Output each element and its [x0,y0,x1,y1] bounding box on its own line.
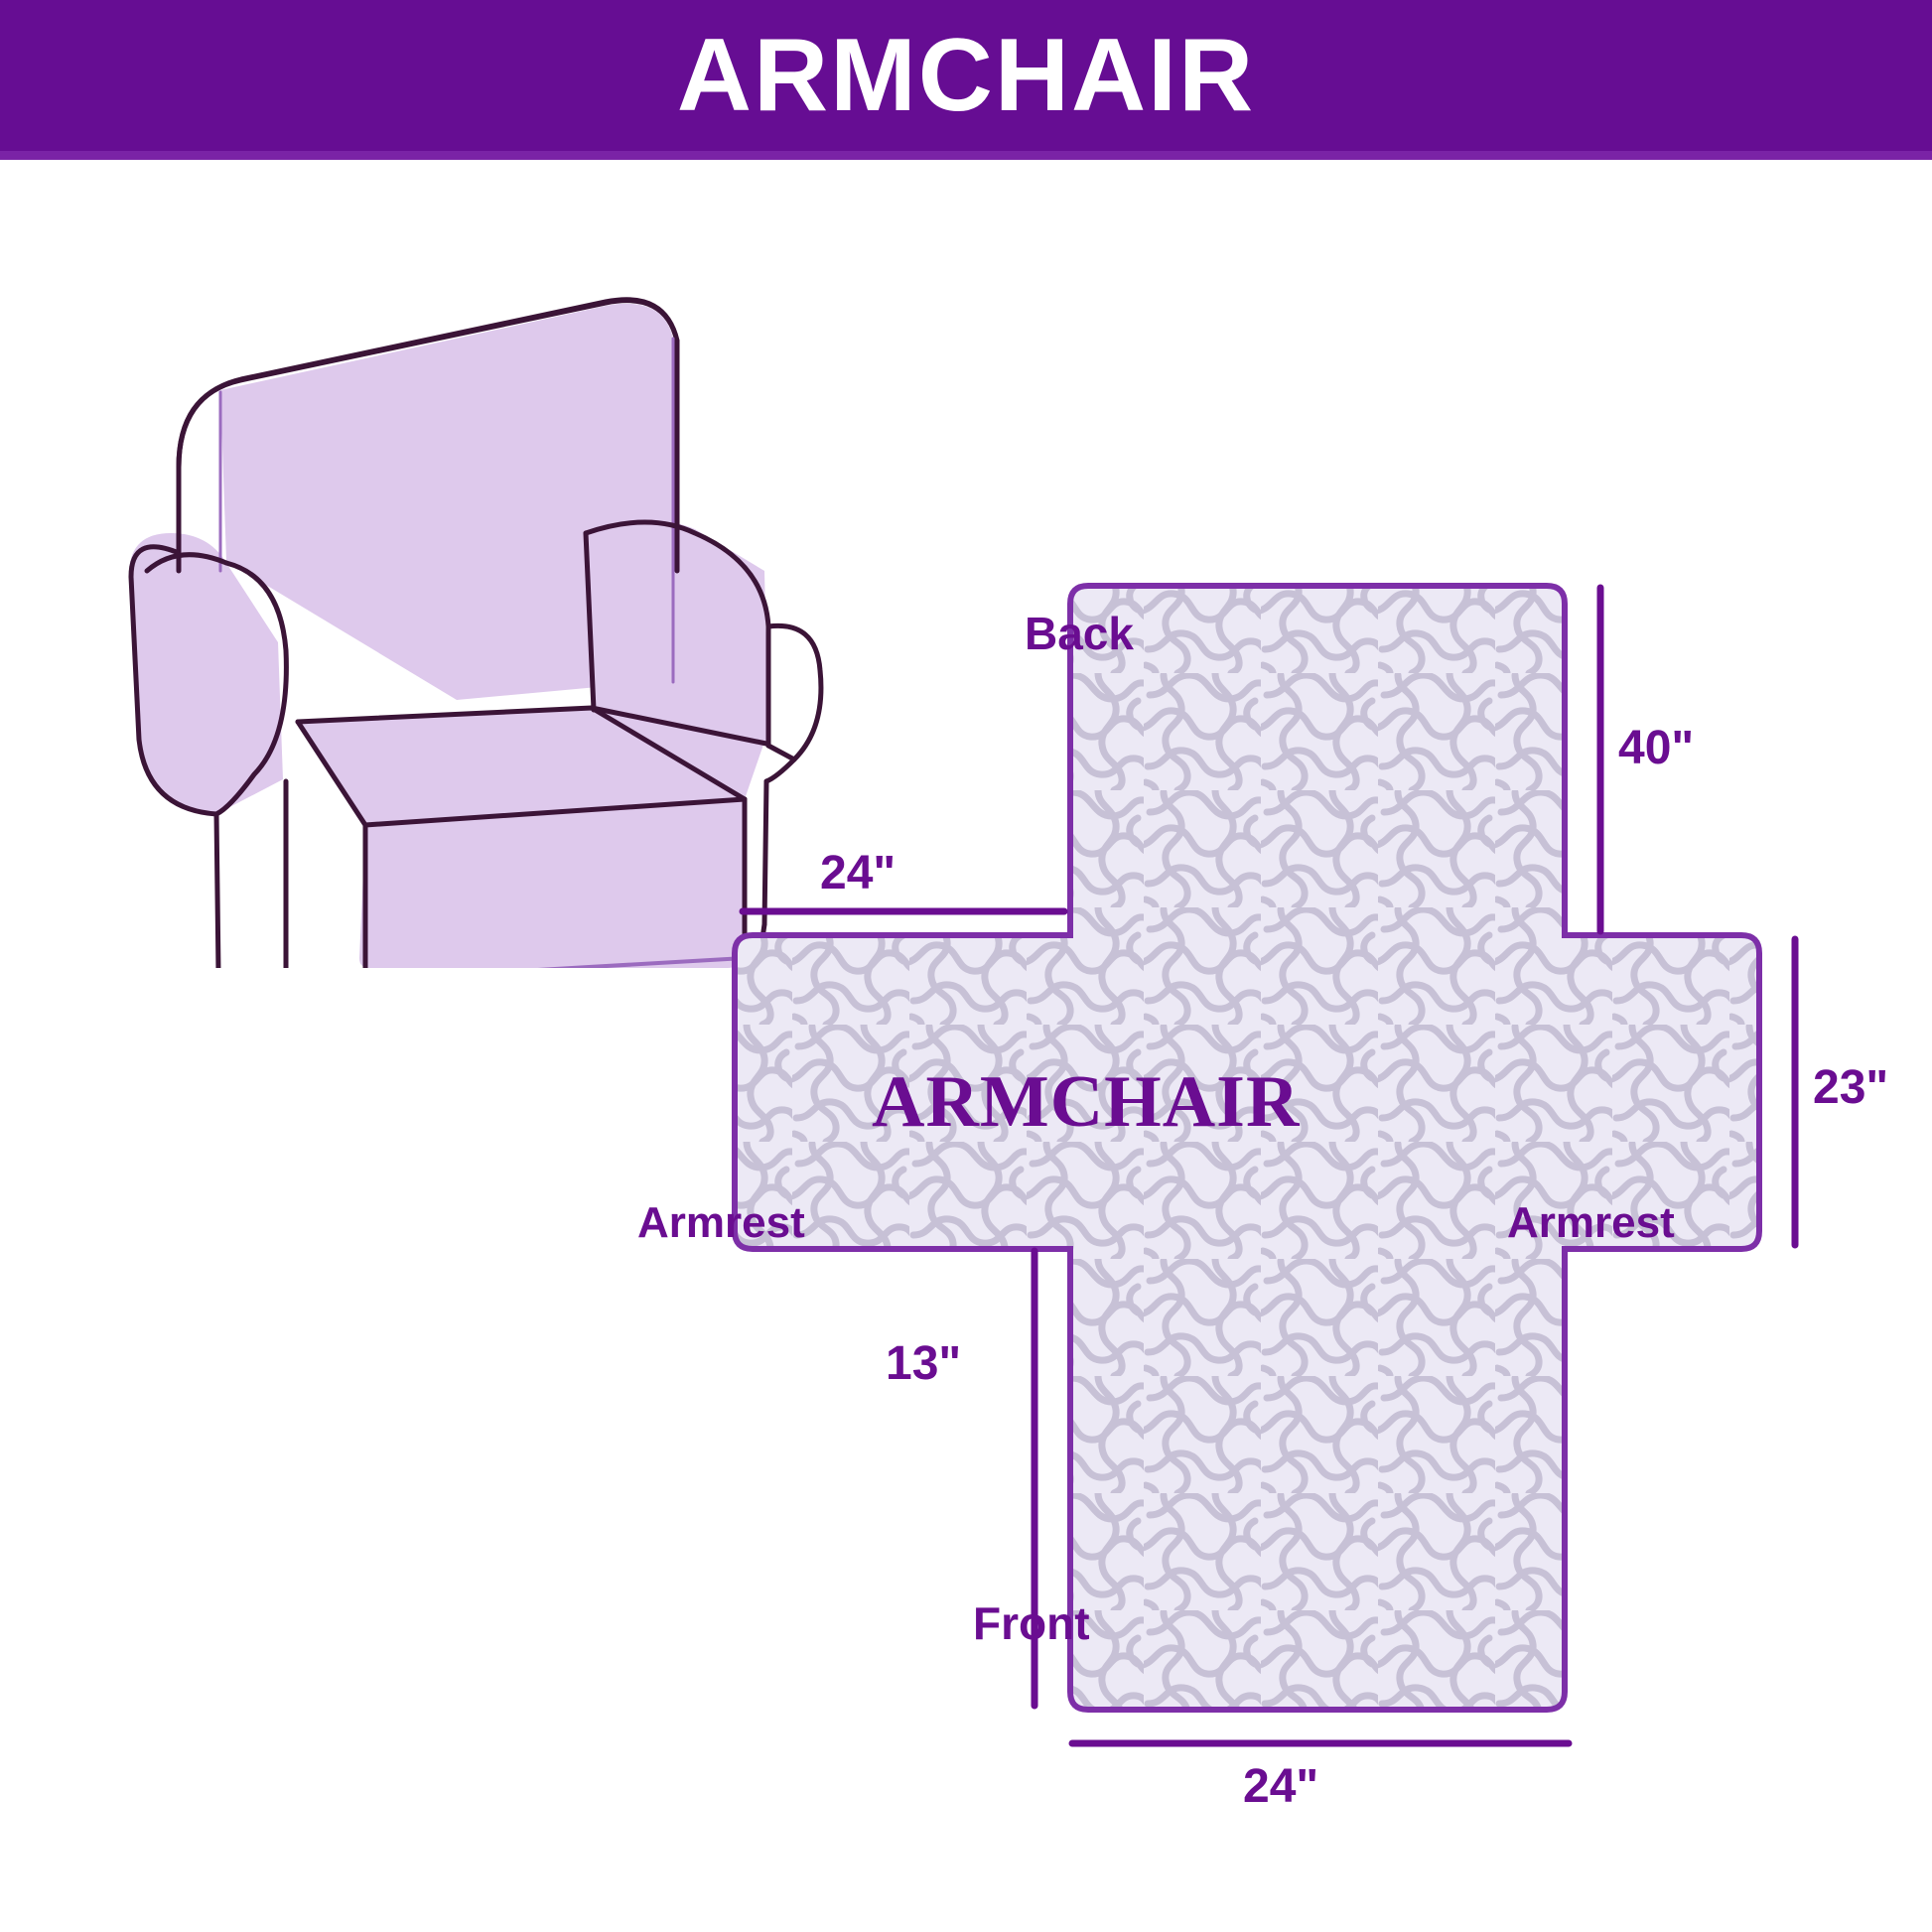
page-title: ARMCHAIR [677,24,1255,127]
dimension-front-width: 24" [1243,1763,1318,1811]
header-banner: ARMCHAIR [0,0,1932,151]
cross-outline [735,586,1759,1710]
header-underline [0,151,1932,160]
dimension-back-width: 24" [820,850,896,897]
label-armrest-left: Armrest [637,1201,805,1245]
dimension-diagram: Back ARMCHAIR Armrest Armrest Front 40" … [675,556,1932,1932]
label-front: Front [973,1600,1090,1646]
label-armrest-right: Armrest [1507,1201,1675,1245]
dimension-back-height: 40" [1618,725,1694,772]
cross-diagram-svg [675,556,1932,1932]
label-center-armchair: ARMCHAIR [872,1065,1300,1139]
label-back: Back [1025,611,1134,656]
page-root: ARMCHAIR [0,0,1932,1932]
dimension-front-height: 13" [886,1340,961,1388]
dimension-center-height: 23" [1813,1064,1888,1112]
